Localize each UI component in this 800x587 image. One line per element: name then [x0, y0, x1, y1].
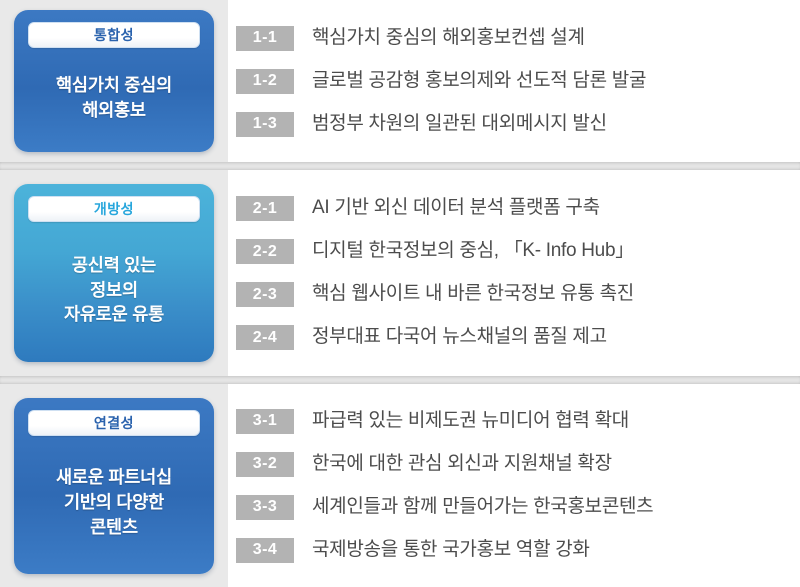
strategy-group-1: 통합성 핵심가치 중심의 해외홍보 1-1 핵심가치 중심의 해외홍보컨셉 설계…	[0, 0, 800, 162]
pillar-title-line: 정보의	[64, 278, 164, 303]
task-code-badge: 1-2	[236, 69, 294, 94]
pillar-cell-1: 통합성 핵심가치 중심의 해외홍보	[0, 0, 228, 162]
pillar-tag-2: 개방성	[28, 196, 200, 222]
task-list-1: 1-1 핵심가치 중심의 해외홍보컨셉 설계 1-2 글로벌 공감형 홍보의제와…	[228, 0, 800, 162]
pillar-tag-1: 통합성	[28, 22, 200, 48]
pillar-tag-label-3: 연결성	[94, 416, 134, 430]
task-code-badge: 2-3	[236, 282, 294, 307]
pillar-cell-2: 개방성 공신력 있는 정보의 자유로운 유통	[0, 170, 228, 376]
pillar-tag-3: 연결성	[28, 410, 200, 436]
task-label: AI 기반 외신 데이터 분석 플랫폼 구축	[312, 197, 600, 220]
strategy-group-2: 개방성 공신력 있는 정보의 자유로운 유통 2-1 AI 기반 외신 데이터 …	[0, 170, 800, 376]
group-divider	[0, 376, 800, 384]
pillar-card-1: 통합성 핵심가치 중심의 해외홍보	[14, 10, 214, 152]
pillar-title-line: 공신력 있는	[64, 253, 164, 278]
task-code-badge: 3-3	[236, 495, 294, 520]
task-row[interactable]: 2-4 정부대표 다국어 뉴스채널의 품질 제고	[236, 316, 784, 359]
task-label: 한국에 대한 관심 외신과 지원채널 확장	[312, 453, 612, 476]
pillar-card-3: 연결성 새로운 파트너십 기반의 다양한 콘텐츠	[14, 398, 214, 574]
task-row[interactable]: 3-4 국제방송을 통한 국가홍보 역할 강화	[236, 529, 784, 572]
group-divider	[0, 162, 800, 170]
pillar-title-line: 핵심가치 중심의	[56, 73, 172, 98]
task-row[interactable]: 2-1 AI 기반 외신 데이터 분석 플랫폼 구축	[236, 187, 784, 230]
task-list-3: 3-1 파급력 있는 비제도권 뉴미디어 협력 확대 3-2 한국에 대한 관심…	[228, 384, 800, 587]
task-label: 범정부 차원의 일관된 대외메시지 발신	[312, 113, 607, 136]
pillar-title-2: 공신력 있는 정보의 자유로운 유통	[64, 232, 164, 348]
pillar-title-line: 기반의 다양한	[56, 490, 172, 515]
pillar-tag-label-1: 통합성	[94, 28, 134, 42]
pillar-card-2: 개방성 공신력 있는 정보의 자유로운 유통	[14, 184, 214, 362]
task-code-badge: 2-4	[236, 325, 294, 350]
task-label: 핵심가치 중심의 해외홍보컨셉 설계	[312, 27, 585, 50]
task-row[interactable]: 1-2 글로벌 공감형 홍보의제와 선도적 담론 발굴	[236, 60, 784, 103]
pillar-title-line: 콘텐츠	[56, 515, 172, 540]
task-row[interactable]: 3-1 파급력 있는 비제도권 뉴미디어 협력 확대	[236, 400, 784, 443]
task-code-badge: 3-1	[236, 409, 294, 434]
pillar-title-1: 핵심가치 중심의 해외홍보	[56, 58, 172, 138]
task-row[interactable]: 3-3 세계인들과 함께 만들어가는 한국홍보콘텐츠	[236, 486, 784, 529]
pillar-tag-label-2: 개방성	[94, 202, 134, 216]
task-code-badge: 3-4	[236, 538, 294, 563]
task-row[interactable]: 1-1 핵심가치 중심의 해외홍보컨셉 설계	[236, 17, 784, 60]
pillar-title-line: 새로운 파트너십	[56, 465, 172, 490]
task-code-badge: 1-1	[236, 26, 294, 51]
task-code-badge: 3-2	[236, 452, 294, 477]
task-code-badge: 1-3	[236, 112, 294, 137]
task-label: 파급력 있는 비제도권 뉴미디어 협력 확대	[312, 410, 629, 433]
strategy-framework-diagram: 통합성 핵심가치 중심의 해외홍보 1-1 핵심가치 중심의 해외홍보컨셉 설계…	[0, 0, 800, 587]
task-label: 정부대표 다국어 뉴스채널의 품질 제고	[312, 326, 607, 349]
task-list-2: 2-1 AI 기반 외신 데이터 분석 플랫폼 구축 2-2 디지털 한국정보의…	[228, 170, 800, 376]
task-label: 세계인들과 함께 만들어가는 한국홍보콘텐츠	[312, 496, 653, 519]
task-row[interactable]: 2-2 디지털 한국정보의 중심, 「K- Info Hub」	[236, 230, 784, 273]
pillar-title-line: 자유로운 유통	[64, 302, 164, 327]
task-code-badge: 2-1	[236, 196, 294, 221]
task-label: 글로벌 공감형 홍보의제와 선도적 담론 발굴	[312, 70, 646, 93]
task-row[interactable]: 1-3 범정부 차원의 일관된 대외메시지 발신	[236, 103, 784, 146]
task-label: 디지털 한국정보의 중심, 「K- Info Hub」	[312, 240, 634, 263]
task-row[interactable]: 2-3 핵심 웹사이트 내 바른 한국정보 유통 촉진	[236, 273, 784, 316]
pillar-title-line: 해외홍보	[56, 98, 172, 123]
task-row[interactable]: 3-2 한국에 대한 관심 외신과 지원채널 확장	[236, 443, 784, 486]
strategy-group-3: 연결성 새로운 파트너십 기반의 다양한 콘텐츠 3-1 파급력 있는 비제도권…	[0, 384, 800, 587]
task-label: 핵심 웹사이트 내 바른 한국정보 유통 촉진	[312, 283, 634, 306]
task-label: 국제방송을 통한 국가홍보 역할 강화	[312, 539, 590, 562]
task-code-badge: 2-2	[236, 239, 294, 264]
pillar-title-3: 새로운 파트너십 기반의 다양한 콘텐츠	[56, 446, 172, 560]
pillar-cell-3: 연결성 새로운 파트너십 기반의 다양한 콘텐츠	[0, 384, 228, 587]
